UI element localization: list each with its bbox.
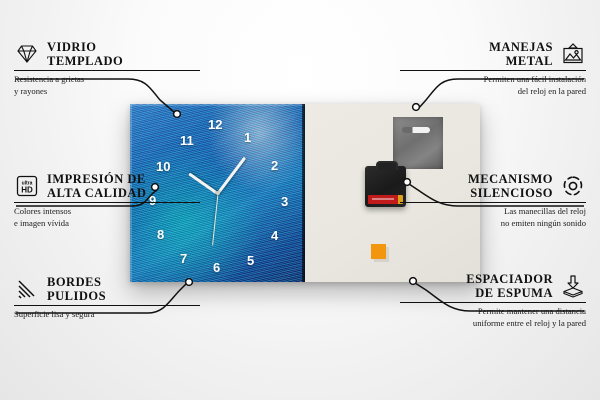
feature-divider (14, 70, 200, 71)
feature-title-line2: METAL (489, 54, 553, 68)
feature-divider (400, 302, 586, 303)
mechanism-hanger-tab (376, 161, 398, 170)
feature-desc-line2: e imagen vívida (14, 218, 200, 229)
feature-title: MECANISMO SILENCIOSO (468, 172, 553, 200)
feature-divider (14, 305, 200, 306)
foam-spacer-icon (560, 274, 586, 298)
feature-title-line1: VIDRIO (47, 40, 123, 54)
feature-title: IMPRESIÓN DE ALTA CALIDAD (47, 172, 146, 200)
feature-desc-line2: del reloj en la pared (400, 86, 586, 97)
feature-desc-line1: Permite mantener una distancia (400, 306, 586, 317)
clock-minute-hand (217, 157, 247, 195)
feature-impresion-alta-calidad: ultra HD IMPRESIÓN DE ALTA CALIDAD Color… (14, 172, 200, 229)
feature-title-line2: SILENCIOSO (468, 186, 553, 200)
feature-header: MANEJAS METAL (400, 40, 586, 68)
clock-numeral-6: 6 (213, 261, 220, 274)
feature-mecanismo-silencioso: MECANISMO SILENCIOSO Las manecillas del … (400, 172, 586, 229)
feature-title: MANEJAS METAL (489, 40, 553, 68)
feature-desc-line1: Colores intensos (14, 206, 200, 217)
feature-header: ESPACIADOR DE ESPUMA (400, 272, 586, 300)
clock-numeral-12: 12 (208, 118, 222, 131)
hanger-slot (402, 127, 430, 133)
clock-numeral-4: 4 (271, 229, 278, 242)
feature-title-line2: DE ESPUMA (466, 286, 553, 300)
feature-title-line2: PULIDOS (47, 289, 106, 303)
clock-numeral-2: 2 (271, 159, 278, 172)
feature-header: ultra HD IMPRESIÓN DE ALTA CALIDAD (14, 172, 200, 200)
polished-edges-icon (14, 277, 40, 301)
feature-header: VIDRIO TEMPLADO (14, 40, 200, 68)
ultra-hd-icon: ultra HD (14, 174, 40, 198)
feature-divider (14, 202, 200, 203)
clock-center-pin (216, 191, 220, 195)
feature-title-line1: ESPACIADOR (466, 272, 553, 286)
clock-numeral-11: 11 (180, 134, 194, 147)
diamond-icon (14, 42, 40, 66)
feature-desc-line1: Resistencia a grietas (14, 74, 200, 85)
feature-title-line1: IMPRESIÓN DE (47, 172, 146, 186)
clock-numeral-3: 3 (281, 195, 288, 208)
feature-manejas-metal: MANEJAS METAL Permiten una fácil instala… (400, 40, 586, 97)
feature-desc-line2: uniforme entre el reloj y la pared (400, 318, 586, 329)
metal-hanger-plate (393, 117, 443, 169)
clock-numeral-5: 5 (247, 254, 254, 267)
feature-title-line1: MANEJAS (489, 40, 553, 54)
feature-desc-line1: Las manecillas del reloj (400, 206, 586, 217)
feature-header: BORDES PULIDOS (14, 275, 200, 303)
feature-desc-line2: no emiten ningún sonido (400, 218, 586, 229)
clock-numeral-7: 7 (180, 252, 187, 265)
battery (368, 195, 403, 204)
feature-vidrio-templado: VIDRIO TEMPLADO Resistencia a grietas y … (14, 40, 200, 97)
feature-title-line2: ALTA CALIDAD (47, 186, 146, 200)
feature-espaciador-espuma: ESPACIADOR DE ESPUMA Permite mantener un… (400, 272, 586, 329)
infographic-stage: 12 1 2 3 4 5 6 7 8 9 10 11 (0, 0, 600, 400)
foam-spacer-square (371, 244, 386, 259)
gear-icon (560, 174, 586, 198)
clock-numeral-1: 1 (244, 131, 251, 144)
feature-divider (400, 70, 586, 71)
picture-hanging-icon (560, 42, 586, 66)
feature-title-line2: TEMPLADO (47, 54, 123, 68)
svg-text:HD: HD (21, 186, 33, 195)
feature-desc-line1: Superficie lisa y segura (14, 309, 200, 320)
feature-divider (400, 202, 586, 203)
feature-desc-line1: Permiten una fácil instalación (400, 74, 586, 85)
feature-title: ESPACIADOR DE ESPUMA (466, 272, 553, 300)
feature-desc-line2: y rayones (14, 86, 200, 97)
feature-bordes-pulidos: BORDES PULIDOS Superficie lisa y segura (14, 275, 200, 321)
clock-numeral-8: 8 (157, 228, 164, 241)
feature-title-line1: MECANISMO (468, 172, 553, 186)
feature-header: MECANISMO SILENCIOSO (400, 172, 586, 200)
clock-second-hand (212, 193, 218, 245)
feature-title-line1: BORDES (47, 275, 106, 289)
feature-title: BORDES PULIDOS (47, 275, 106, 303)
feature-title: VIDRIO TEMPLADO (47, 40, 123, 68)
